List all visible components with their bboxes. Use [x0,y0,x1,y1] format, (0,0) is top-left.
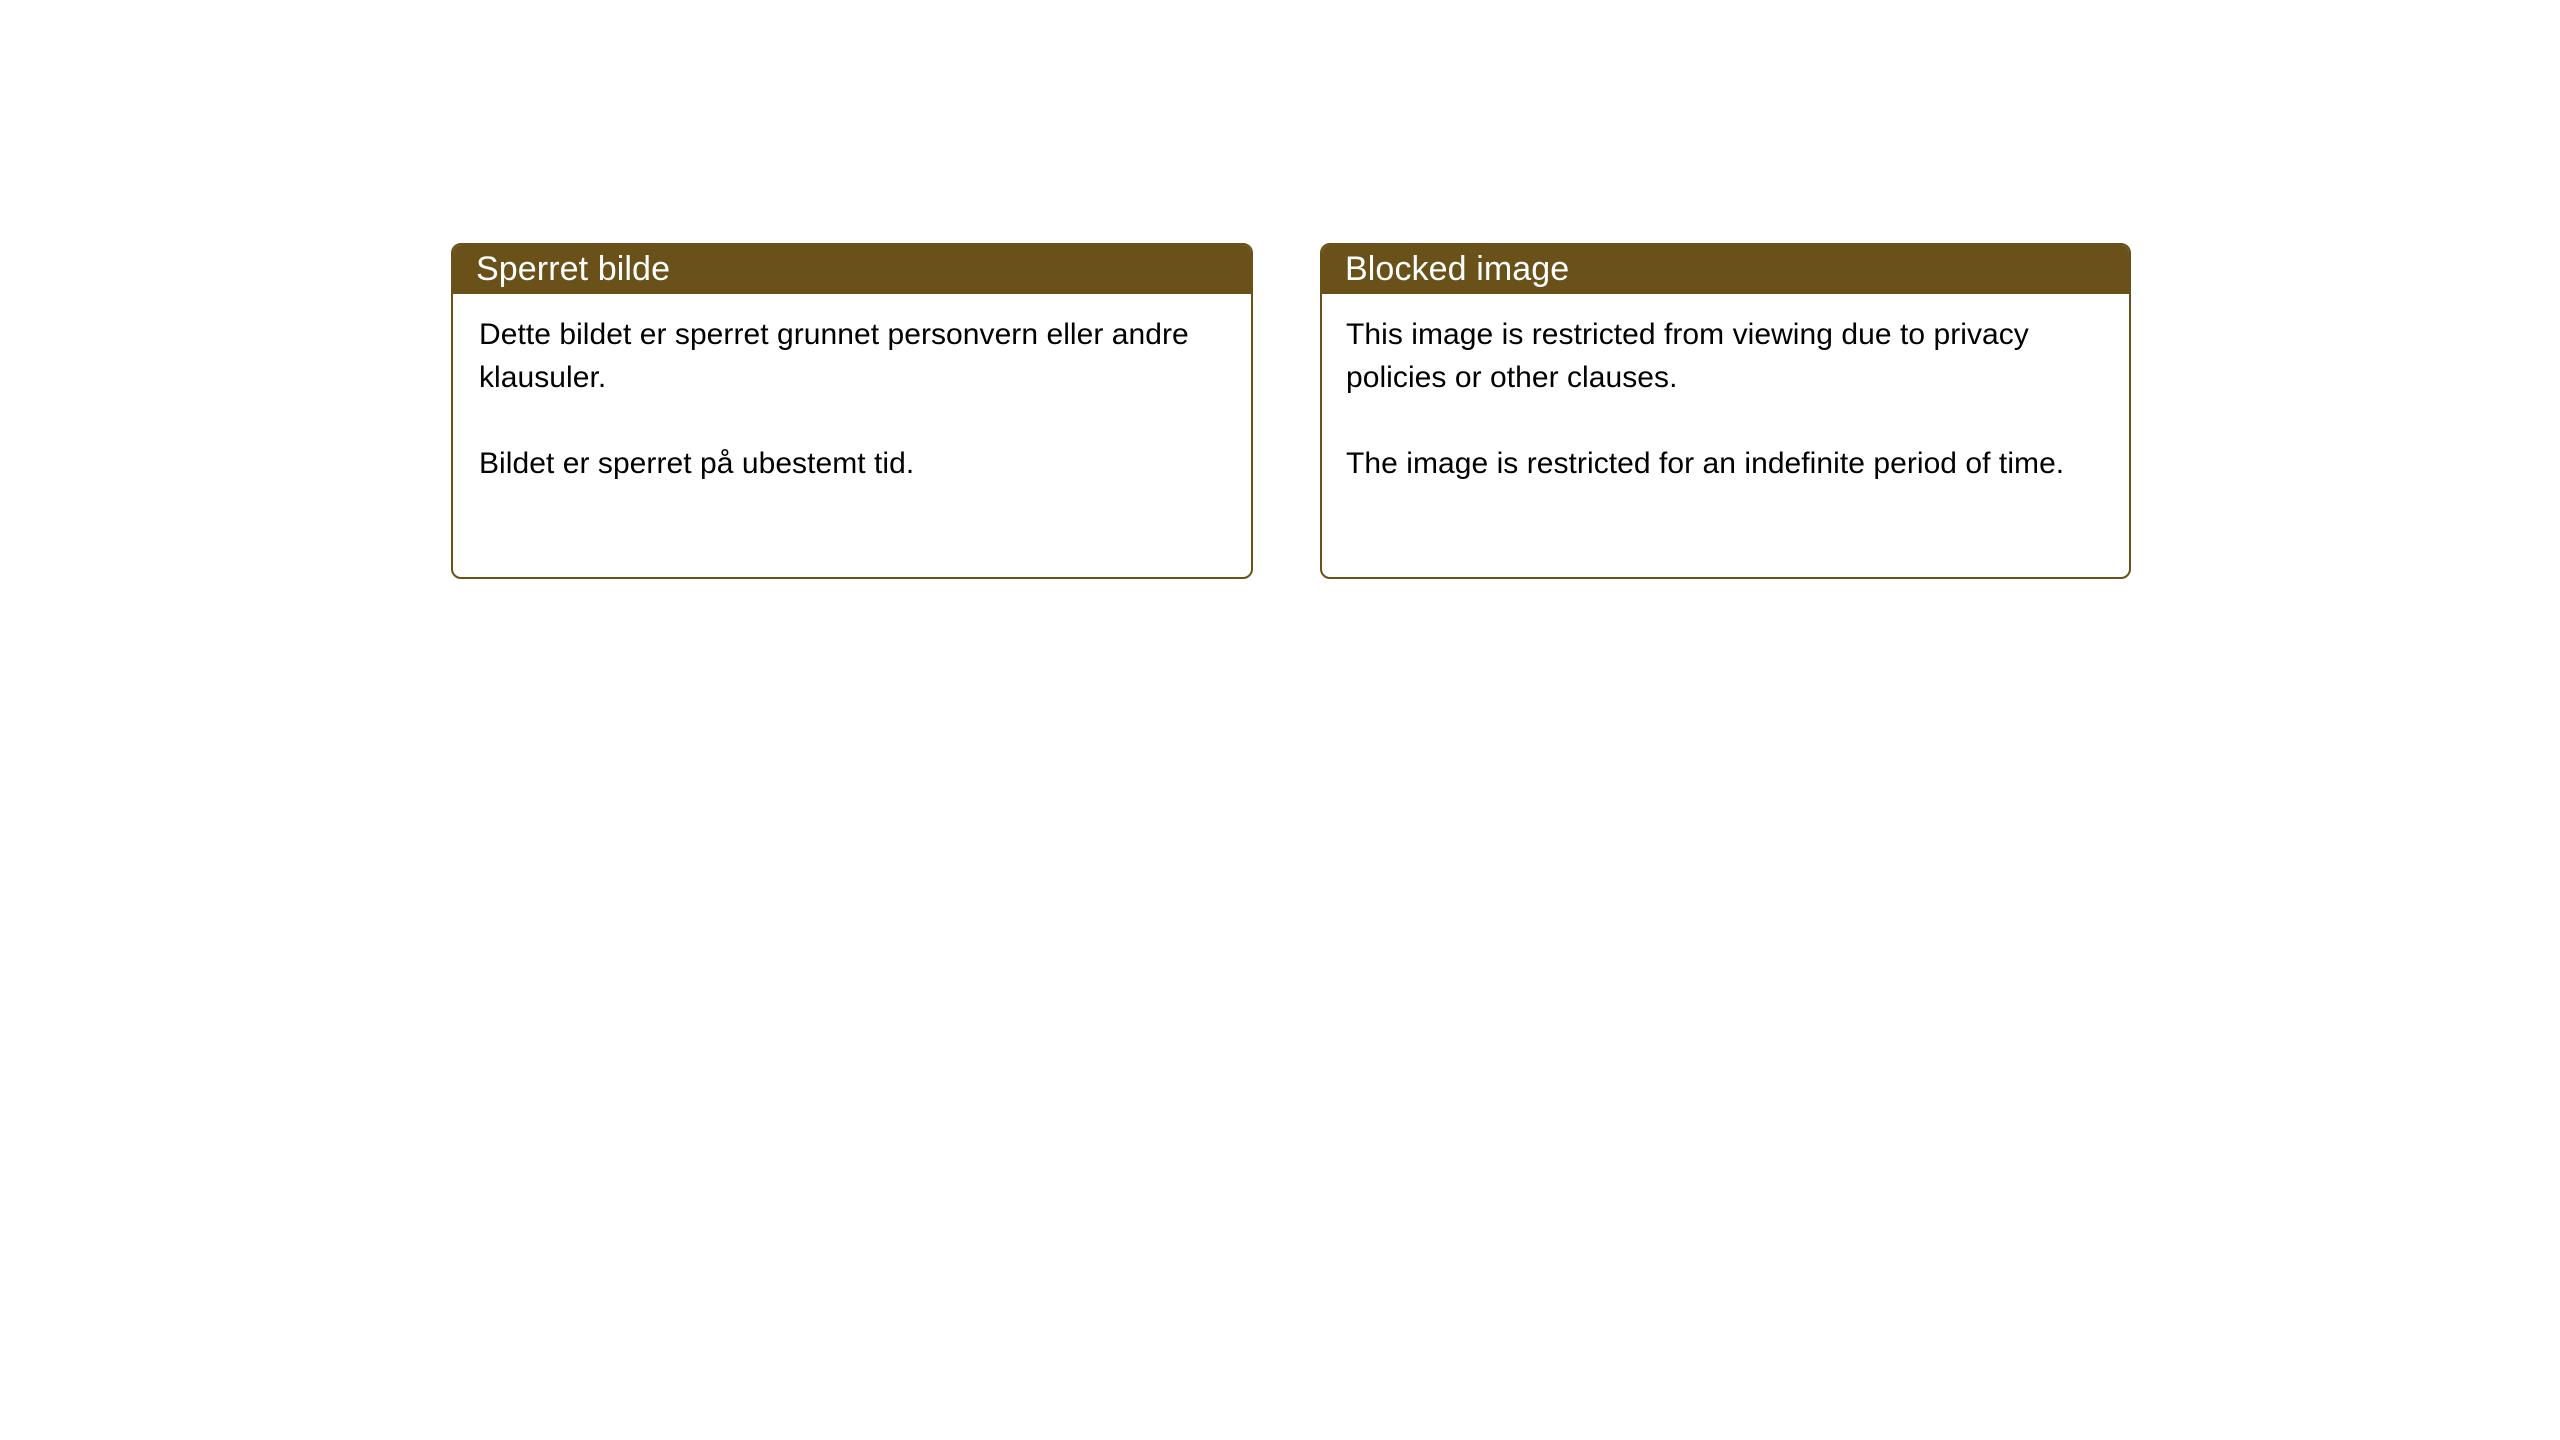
card-title-norwegian: Sperret bilde [476,250,670,288]
card-title-english: Blocked image [1345,250,1569,288]
page-root: Sperret bilde Dette bildet er sperret gr… [0,0,2560,1440]
card-paragraph-english-1: This image is restricted from viewing du… [1346,313,2113,399]
card-header-english: Blocked image [1320,243,2131,294]
card-body-norwegian: Dette bildet er sperret grunnet personve… [453,294,1251,485]
card-body-english: This image is restricted from viewing du… [1322,294,2129,485]
blocked-image-notice-card-norwegian: Sperret bilde Dette bildet er sperret gr… [451,243,1253,579]
card-paragraph-norwegian-1: Dette bildet er sperret grunnet personve… [479,313,1229,399]
blocked-image-notice-card-english: Blocked image This image is restricted f… [1320,243,2131,579]
card-header-norwegian: Sperret bilde [451,243,1253,294]
card-paragraph-norwegian-2: Bildet er sperret på ubestemt tid. [479,442,1229,485]
card-paragraph-english-2: The image is restricted for an indefinit… [1346,442,2113,485]
